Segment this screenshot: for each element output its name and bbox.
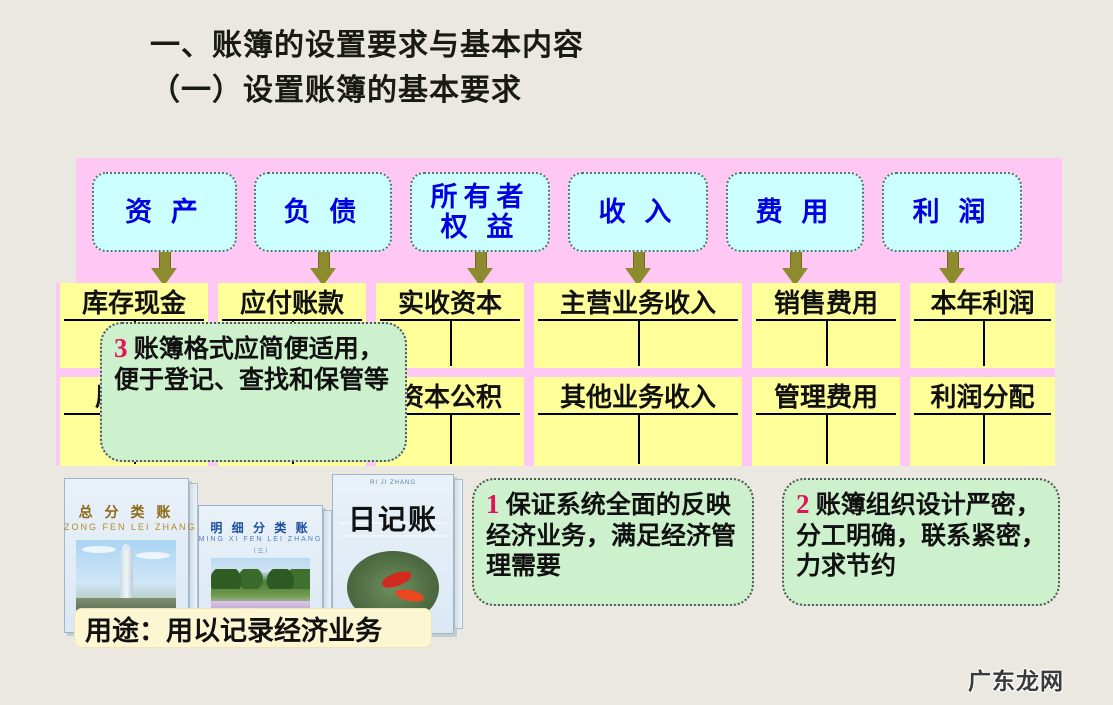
callout-requirement-2[interactable]: 2 账簿组织设计严密，分工明确，联系紧密，力求节约 bbox=[782, 478, 1060, 606]
callout-text: 账簿组织设计严密，分工明确，联系紧密，力求节约 bbox=[796, 492, 1046, 580]
t-account-vline bbox=[826, 415, 828, 464]
class-box-label: 收 入 bbox=[599, 197, 678, 227]
t-account-vline bbox=[983, 415, 985, 464]
callout-number: 2 bbox=[796, 489, 810, 519]
class-box-label: 资 产 bbox=[125, 197, 204, 227]
ledger-cell[interactable]: 本年利润 bbox=[910, 283, 1055, 368]
book-page-edge bbox=[454, 479, 463, 629]
slide-canvas: 一、账簿的设置要求与基本内容 （一）设置账簿的基本要求 资 产 负 债 所有者 … bbox=[0, 0, 1113, 705]
page-title: 一、账簿的设置要求与基本内容 bbox=[150, 20, 584, 64]
t-account-vline bbox=[638, 415, 640, 464]
ledger-account-title: 销售费用 bbox=[752, 283, 900, 319]
callout-number: 3 bbox=[114, 333, 128, 363]
ledger-cell[interactable]: 主营业务收入 bbox=[534, 283, 742, 368]
class-box-expense[interactable]: 费 用 bbox=[726, 172, 864, 252]
class-box-label: 利 润 bbox=[913, 197, 992, 227]
page-subtitle: （一）设置账簿的基本要求 bbox=[150, 65, 522, 109]
ledger-account-title: 实收资本 bbox=[376, 283, 524, 319]
ledger-cell[interactable]: 其他业务收入 bbox=[534, 377, 742, 466]
class-box-liabilities[interactable]: 负 债 bbox=[254, 172, 392, 252]
t-account-vline bbox=[826, 321, 828, 366]
book-title: 总 分 类 账 bbox=[64, 502, 189, 522]
class-box-owners-equity[interactable]: 所有者 权 益 bbox=[410, 172, 550, 252]
callout-requirement-1[interactable]: 1 保证系统全面的反映经济业务，满足经济管理需要 bbox=[472, 478, 754, 606]
watermark: 广东龙网 bbox=[968, 662, 1064, 696]
class-box-revenue[interactable]: 收 入 bbox=[568, 172, 708, 252]
book-page-edge bbox=[189, 483, 198, 628]
usage-caption: 用途：用以记录经济业务 bbox=[74, 608, 432, 648]
t-account-vline bbox=[450, 415, 452, 464]
book-cover-photo bbox=[76, 540, 176, 618]
ledger-account-title: 库存现金 bbox=[60, 283, 208, 319]
arrow-down-icon bbox=[151, 252, 177, 286]
t-account-vline bbox=[638, 321, 640, 366]
arrow-down-icon bbox=[939, 252, 965, 286]
book-pinyin: MING XI FEN LEI ZHANG bbox=[198, 536, 323, 543]
t-account-vline bbox=[983, 321, 985, 366]
arrow-down-icon bbox=[310, 252, 336, 286]
ledger-account-title: 管理费用 bbox=[752, 377, 900, 413]
arrow-down-icon bbox=[782, 252, 808, 286]
callout-requirement-3[interactable]: 3 账簿格式应简便适用，便于登记、查找和保管等 bbox=[100, 322, 407, 462]
usage-caption-text: 用途：用以记录经济业务 bbox=[85, 609, 382, 648]
book-header-text: RI JI ZHANG bbox=[332, 480, 454, 486]
book-subtitle: （ 三 ） bbox=[198, 546, 323, 555]
ledger-cell[interactable]: 管理费用 bbox=[752, 377, 900, 466]
class-box-label: 费 用 bbox=[756, 197, 835, 227]
ledger-account-title: 其他业务收入 bbox=[534, 377, 742, 413]
ledger-cell[interactable]: 销售费用 bbox=[752, 283, 900, 368]
ledger-cell[interactable]: 利润分配 bbox=[910, 377, 1055, 466]
ledger-account-title: 本年利润 bbox=[910, 283, 1055, 319]
callout-number: 1 bbox=[486, 489, 500, 519]
class-box-label: 负 债 bbox=[284, 197, 363, 227]
class-box-label-line2: 权 益 bbox=[441, 212, 520, 242]
ledger-account-title: 主营业务收入 bbox=[534, 283, 742, 319]
ledger-account-title: 利润分配 bbox=[910, 377, 1055, 413]
class-box-profit[interactable]: 利 润 bbox=[882, 172, 1022, 252]
ledger-account-title: 应付账款 bbox=[218, 283, 366, 319]
class-box-label: 所有者 bbox=[431, 182, 530, 212]
callout-text: 保证系统全面的反映经济业务，满足经济管理需要 bbox=[486, 492, 736, 580]
arrow-down-icon bbox=[467, 252, 493, 286]
book-title: 日记账 bbox=[348, 498, 438, 538]
callout-text: 账簿格式应简便适用，便于登记、查找和保管等 bbox=[114, 336, 389, 394]
book-title: 明 细 分 类 账 bbox=[198, 519, 323, 536]
t-account-vline bbox=[450, 321, 452, 366]
arrow-down-icon bbox=[625, 252, 651, 286]
class-box-assets[interactable]: 资 产 bbox=[92, 172, 237, 252]
book-pinyin: ZONG FEN LEI ZHANG bbox=[64, 522, 189, 532]
